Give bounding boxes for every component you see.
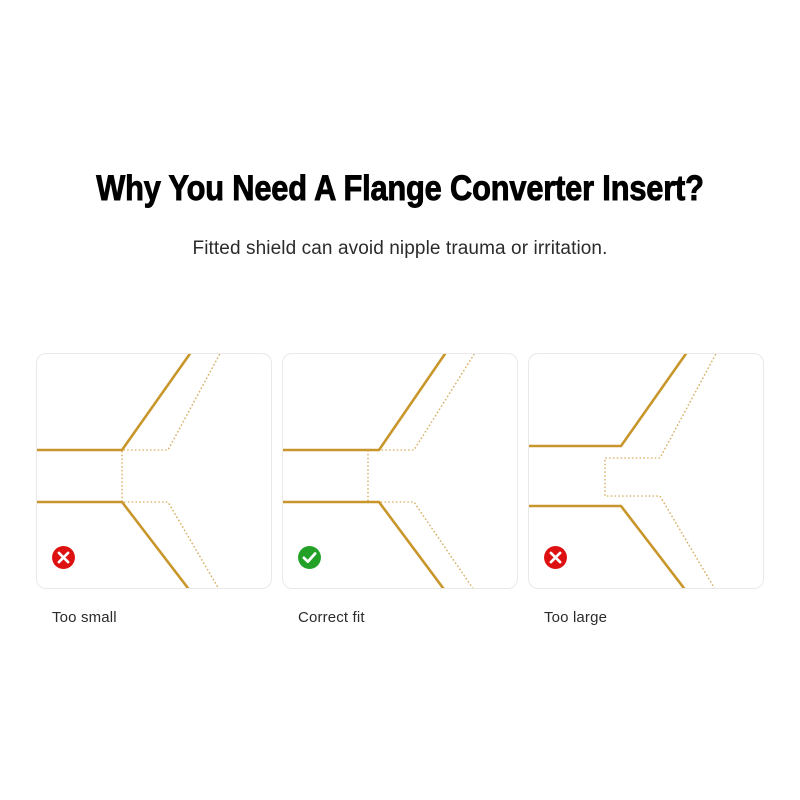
infographic-page: Why You Need A Flange Converter Insert? … bbox=[0, 0, 800, 800]
panel-caption: Too small bbox=[36, 589, 272, 628]
panel-caption: Too large bbox=[528, 589, 764, 628]
heading-block: Why You Need A Flange Converter Insert? … bbox=[0, 168, 800, 262]
circle-check-icon bbox=[297, 545, 322, 570]
circle-x-icon bbox=[543, 545, 568, 570]
page-subtitle: Fitted shield can avoid nipple trauma or… bbox=[0, 210, 800, 262]
diagram-panel bbox=[282, 353, 518, 589]
nipple-reference-outline bbox=[122, 354, 223, 589]
nipple-reference-outline bbox=[368, 354, 478, 589]
diagram-panel bbox=[528, 353, 764, 589]
comparison-panels-row: Too small bbox=[36, 353, 764, 628]
comparison-panel-too-small: Too small bbox=[36, 353, 272, 628]
diagram-panel bbox=[36, 353, 272, 589]
panel-caption: Correct fit bbox=[282, 589, 518, 628]
page-title: Why You Need A Flange Converter Insert? bbox=[48, 168, 752, 210]
comparison-panel-correct-fit: Correct fit bbox=[282, 353, 518, 628]
comparison-panel-too-large: Too large bbox=[528, 353, 764, 628]
circle-x-icon bbox=[51, 545, 76, 570]
